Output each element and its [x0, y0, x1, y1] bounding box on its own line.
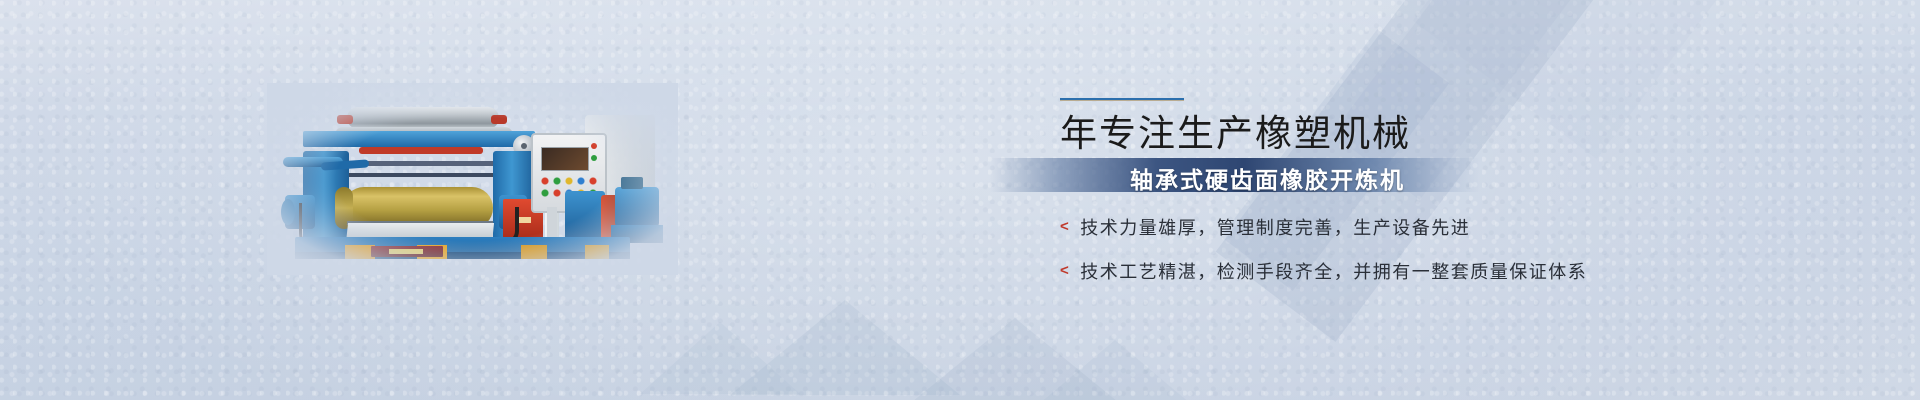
machine-panel-screen	[541, 147, 589, 171]
list-item: < 技术工艺精湛，检测手段齐全，并拥有一整套质量保证体系	[1060, 258, 1700, 284]
feature-bullet-list: < 技术力量雄厚，管理制度完善，生产设备先进 < 技术工艺精湛，检测手段齐全，并…	[1060, 214, 1700, 284]
background-mountain-shape-2	[880, 318, 1150, 400]
bullet-text: 技术工艺精湛，检测手段齐全，并拥有一整套质量保证体系	[1080, 258, 1587, 284]
background-mountain-shape-4	[1020, 340, 1210, 400]
background-mountain-shape-3	[640, 322, 800, 394]
chevron-left-icon: <	[1060, 263, 1070, 278]
list-item: < 技术力量雄厚，管理制度完善，生产设备先进	[1060, 214, 1700, 240]
machine-foot-pad-3	[521, 245, 547, 259]
banner-headline: 年专注生产橡塑机械	[1060, 115, 1700, 156]
machine-top-crossbeam	[303, 131, 535, 147]
machine-top-roller	[347, 107, 499, 129]
chevron-left-icon: <	[1060, 219, 1070, 234]
machine-panel-indicator-green	[591, 155, 597, 161]
bullet-text: 技术力量雄厚，管理制度完善，生产设备先进	[1080, 214, 1470, 240]
machine-foot-pad-4	[585, 245, 609, 259]
promo-banner: 年专注生产橡塑机械 轴承式硬齿面橡胶开炼机 < 技术力量雄厚，管理制度完善，生产…	[0, 0, 1920, 400]
machine-handwheel-hub	[521, 143, 527, 149]
machine-red-guard-bar	[359, 147, 483, 154]
machine-top-red-cap-left	[337, 115, 353, 124]
subtitle-text: 轴承式硬齿面橡胶开炼机	[1130, 161, 1405, 195]
machine-top-red-cap-right	[491, 115, 507, 124]
headline-divider-rule	[1060, 98, 1184, 101]
machine-motor	[615, 187, 659, 227]
subtitle-bar: 轴承式硬齿面橡胶开炼机	[990, 158, 1480, 192]
machine-nameplate-label	[389, 249, 423, 254]
background-mountain-shape-1	[730, 300, 960, 395]
machine-motor-terminal-box	[621, 177, 643, 189]
banner-text-block: 年专注生产橡塑机械 轴承式硬齿面橡胶开炼机 < 技术力量雄厚，管理制度完善，生产…	[1060, 98, 1700, 302]
machine-panel-indicator-red	[591, 143, 597, 149]
machine-side-hub-left	[281, 199, 295, 225]
product-photo-rubber-mixing-mill	[285, 95, 660, 265]
